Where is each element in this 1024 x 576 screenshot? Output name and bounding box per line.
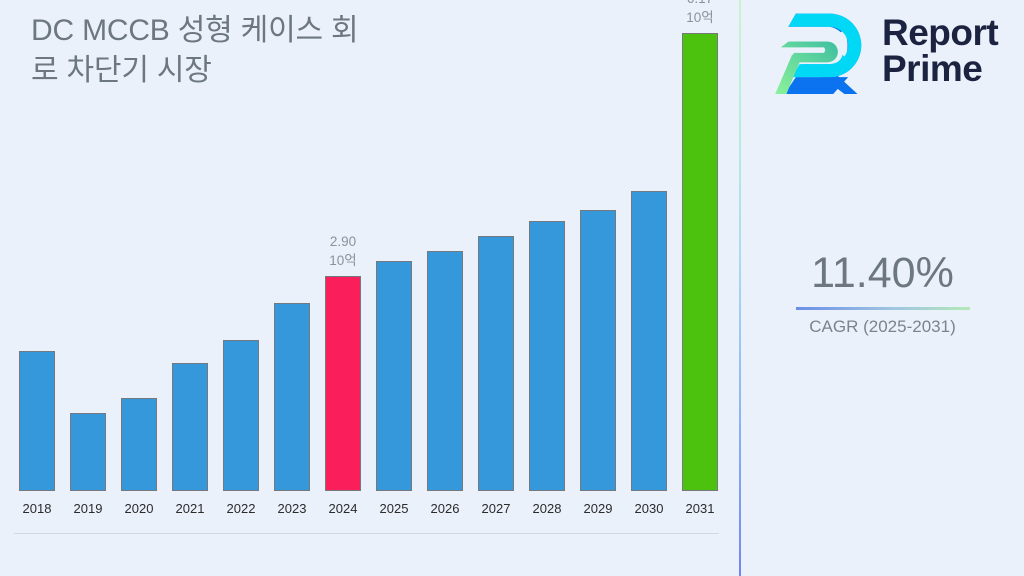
- bar-2022[interactable]: 2022: [223, 340, 259, 491]
- report-prime-logo: Report Prime: [775, 8, 998, 94]
- bar-group: 2030: [631, 191, 667, 491]
- x-axis-baseline: [14, 533, 719, 534]
- x-axis-label-2031: 2031: [673, 501, 727, 516]
- bar-2029[interactable]: 2029: [580, 210, 616, 491]
- bar-group: 2018: [19, 351, 55, 491]
- x-axis-label-2028: 2028: [520, 501, 574, 516]
- bar-2027[interactable]: 2027: [478, 236, 514, 491]
- cagr-block: 11.40% CAGR (2025-2031): [741, 250, 1024, 337]
- bar-group: 2023: [274, 303, 310, 491]
- report-prime-mark-icon: [775, 8, 869, 94]
- logo-line-1: Report: [882, 15, 998, 51]
- report-prime-wordmark: Report Prime: [882, 15, 998, 88]
- bar-value-label-2031: 6.17 10억: [662, 0, 738, 27]
- x-axis-label-2021: 2021: [163, 501, 217, 516]
- bar-2028[interactable]: 2028: [529, 221, 565, 491]
- bar-group: 2026: [427, 251, 463, 491]
- x-axis-label-2023: 2023: [265, 501, 319, 516]
- bar-group: 2025: [376, 261, 412, 491]
- cagr-divider-rule: [796, 307, 970, 310]
- x-axis-label-2026: 2026: [418, 501, 472, 516]
- bar-value-label-2024: 2.90 10억: [305, 232, 381, 270]
- bar-group: 2029: [580, 210, 616, 491]
- bar-2018[interactable]: 2018: [19, 351, 55, 491]
- bar-2030[interactable]: 2030: [631, 191, 667, 491]
- bar-group: 6.17 10억2031: [682, 33, 718, 491]
- x-axis-label-2025: 2025: [367, 501, 421, 516]
- bar-2023[interactable]: 2023: [274, 303, 310, 491]
- bar-group: 2021: [172, 363, 208, 491]
- bar-group: 2020: [121, 398, 157, 491]
- x-axis-label-2030: 2030: [622, 501, 676, 516]
- chart-panel: DC MCCB 성형 케이스 회 로 차단기 시장 20182019202020…: [0, 0, 739, 576]
- bar-group: 2019: [70, 413, 106, 491]
- x-axis-label-2029: 2029: [571, 501, 625, 516]
- bar-2025[interactable]: 2025: [376, 261, 412, 491]
- bar-group: 2022: [223, 340, 259, 491]
- bar-2026[interactable]: 2026: [427, 251, 463, 491]
- bar-2021[interactable]: 2021: [172, 363, 208, 491]
- bar-2024[interactable]: 2.90 10억2024: [325, 276, 361, 491]
- bar-group: 2027: [478, 236, 514, 491]
- bar-2020[interactable]: 2020: [121, 398, 157, 491]
- bar-group: 2.90 10억2024: [325, 276, 361, 491]
- x-axis-label-2024: 2024: [316, 501, 370, 516]
- x-axis-label-2019: 2019: [61, 501, 115, 516]
- logo-line-2: Prime: [882, 51, 998, 87]
- x-axis-label-2018: 2018: [10, 501, 64, 516]
- x-axis-label-2020: 2020: [112, 501, 166, 516]
- cagr-value: 11.40%: [741, 250, 1024, 297]
- cagr-label: CAGR (2025-2031): [741, 317, 1024, 337]
- info-panel: Report Prime 11.40% CAGR (2025-2031): [741, 0, 1024, 576]
- bar-2031[interactable]: 6.17 10억2031: [682, 33, 718, 491]
- bar-group: 2028: [529, 221, 565, 491]
- x-axis-label-2022: 2022: [214, 501, 268, 516]
- bar-2019[interactable]: 2019: [70, 413, 106, 491]
- x-axis-label-2027: 2027: [469, 501, 523, 516]
- bar-chart-plot-area: 2018201920202021202220232.90 10억20242025…: [0, 0, 739, 534]
